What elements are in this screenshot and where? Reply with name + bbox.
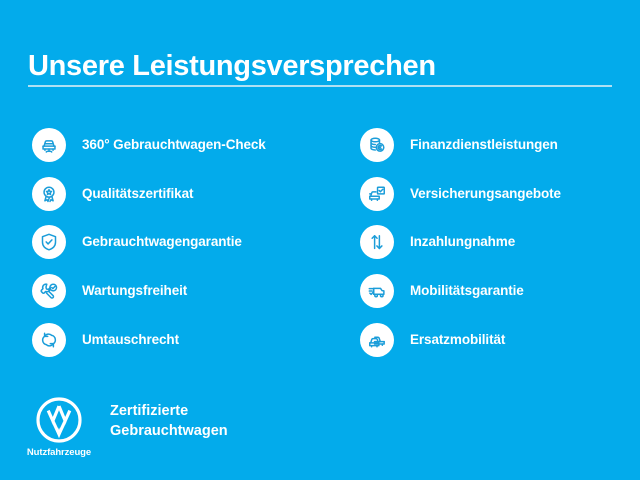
benefit-label: Qualitätszertifikat [82,186,193,202]
brand-claim-line-2: Gebrauchtwagen [110,422,228,442]
benefit-item-mobilitaetsgarantie[interactable]: Mobilitätsgarantie [360,267,630,316]
benefits-column-left: 360° Gebrauchtwagen-Check Qualitätszerti… [32,121,332,364]
brand-claim: Zertifizierte Gebrauchtwagen [110,402,228,441]
benefit-label: 360° Gebrauchtwagen-Check [82,137,266,153]
benefit-label: Ersatzmobilität [410,332,505,348]
car-checklist-icon [360,177,394,211]
benefit-item-versicherungsangebote[interactable]: Versicherungsangebote [360,170,630,219]
exchange-arrows-icon [32,323,66,357]
promo-poster: Unsere Leistungsversprechen [0,0,640,480]
benefits-column-right: Finanzdienstleistungen Versicheru [360,121,630,364]
page-title: Unsere Leistungsversprechen [28,51,436,83]
two-cars-icon [360,323,394,357]
brand-lockup: Nutzfahrzeuge Zertifizierte Gebrauchtwag… [28,396,228,458]
benefit-label: Versicherungsangebote [410,186,561,202]
benefit-item-gebrauchtwagengarantie[interactable]: Gebrauchtwagengarantie [32,218,332,267]
benefit-item-ersatzmobilitaet[interactable]: Ersatzmobilität [360,315,630,364]
benefit-item-qualitaetszertifikat[interactable]: Qualitätszertifikat [32,170,332,219]
benefit-label: Inzahlungnahme [410,234,515,250]
vw-logo [35,396,83,444]
benefit-label: Umtauschrecht [82,332,179,348]
benefit-label: Wartungsfreiheit [82,283,187,299]
brand-claim-line-1: Zertifizierte [110,402,228,422]
coins-euro-icon [360,128,394,162]
benefit-label: Finanzdienstleistungen [410,137,558,153]
benefit-item-finanzdienstleistungen[interactable]: Finanzdienstleistungen [360,121,630,170]
shield-check-icon [32,225,66,259]
benefit-item-inzahlungnahme[interactable]: Inzahlungnahme [360,218,630,267]
arrows-up-down-icon [360,225,394,259]
vw-mark: Nutzfahrzeuge [28,396,90,458]
award-rosette-icon [32,177,66,211]
benefit-item-gebrauchtwagen-check[interactable]: 360° Gebrauchtwagen-Check [32,121,332,170]
benefit-label: Gebrauchtwagengarantie [82,234,242,250]
benefit-item-wartungsfreiheit[interactable]: Wartungsfreiheit [32,267,332,316]
benefit-label: Mobilitätsgarantie [410,283,524,299]
vw-subbrand-label: Nutzfahrzeuge [27,447,91,458]
tow-van-icon [360,274,394,308]
car-inspection-icon [32,128,66,162]
benefit-item-umtauschrecht[interactable]: Umtauschrecht [32,315,332,364]
wrench-check-icon [32,274,66,308]
title-divider [28,85,612,87]
